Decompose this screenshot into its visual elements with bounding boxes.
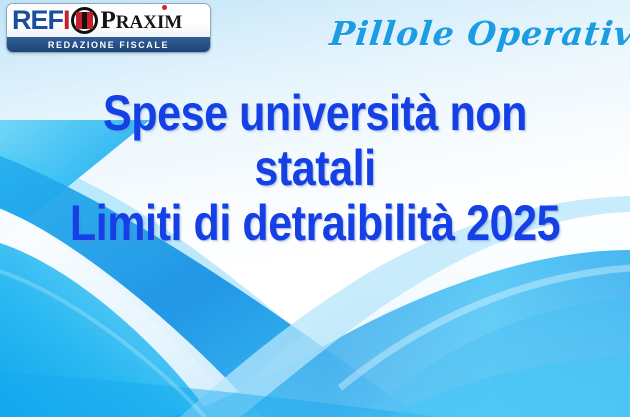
praxim-red-dot-icon (162, 5, 167, 10)
praxim-rax: RAX (116, 12, 157, 33)
title-line-1: Spese università non (44, 86, 586, 141)
logo-refi-blue: REF (12, 5, 63, 35)
banner-title: Spese università non statali Limiti di d… (0, 86, 630, 251)
brand-logo[interactable]: REFI PRAXIM REDAZIONE FISCALE (6, 3, 211, 53)
logo-refi-text: REFI (12, 7, 70, 34)
mark-center-bar (82, 12, 87, 29)
praxim-cap-p: P (101, 7, 116, 34)
logo-refi-red: I (63, 5, 70, 35)
title-line-2: statali (44, 141, 586, 196)
title-line-3: Limiti di detraibilità 2025 (44, 196, 586, 251)
refi-circle-mark-icon (71, 7, 98, 34)
series-heading: Pillole Operative (328, 14, 602, 53)
logo-praxim-text: PRAXIM (101, 8, 183, 33)
logo-tagline: REDAZIONE FISCALE (7, 37, 210, 53)
logo-wordmark: REFI PRAXIM (7, 4, 210, 37)
promo-banner: REFI PRAXIM REDAZIONE FISCALE Pillole Op… (0, 0, 630, 417)
praxim-m: M (164, 12, 182, 33)
